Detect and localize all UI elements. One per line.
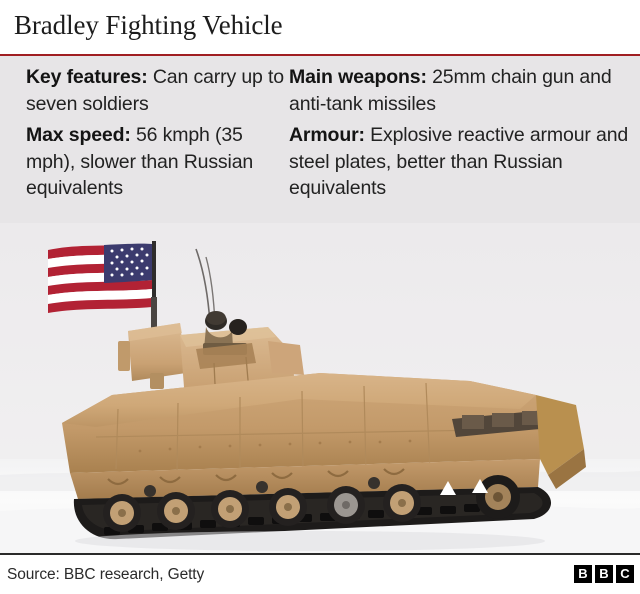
footer: Source: BBC research, Getty B B C [0, 555, 640, 594]
bbc-logo-letter-3: C [616, 565, 634, 583]
fact-key-features: Key features: Can carry up to seven sold… [26, 64, 288, 117]
turret-grab-handle [150, 373, 164, 389]
turret-side-fitting [118, 341, 130, 371]
fact-label: Armour: [289, 124, 365, 146]
bradley-vehicle-illustration [0, 223, 640, 554]
drive-sprocket [476, 475, 520, 519]
fact-label: Main weapons: [289, 66, 427, 88]
vehicle-photo [0, 223, 640, 554]
page-title: Bradley Fighting Vehicle [14, 8, 283, 42]
bbc-logo: B B C [574, 565, 634, 583]
bbc-infographic: Bradley Fighting Vehicle Key features: C… [0, 0, 640, 594]
flag-pole [152, 241, 156, 299]
header: Bradley Fighting Vehicle [0, 0, 640, 56]
vehicle-shadow [75, 531, 545, 551]
turret-optics [268, 341, 304, 375]
fact-max-speed: Max speed: 56 kmph (35 mph), slower than… [26, 122, 288, 202]
second-crew-head [229, 319, 247, 335]
source-credit: Source: BBC research, Getty [7, 566, 204, 584]
fact-main-weapons: Main weapons: 25mm chain gun and anti-ta… [289, 64, 634, 117]
fact-armour: Armour: Explosive reactive armour and st… [289, 122, 634, 202]
fact-label: Key features: [26, 66, 148, 88]
bbc-logo-letter-1: B [574, 565, 592, 583]
fact-label: Max speed: [26, 124, 131, 146]
facts-panel: Key features: Can carry up to seven sold… [0, 56, 640, 223]
bbc-logo-letter-2: B [595, 565, 613, 583]
